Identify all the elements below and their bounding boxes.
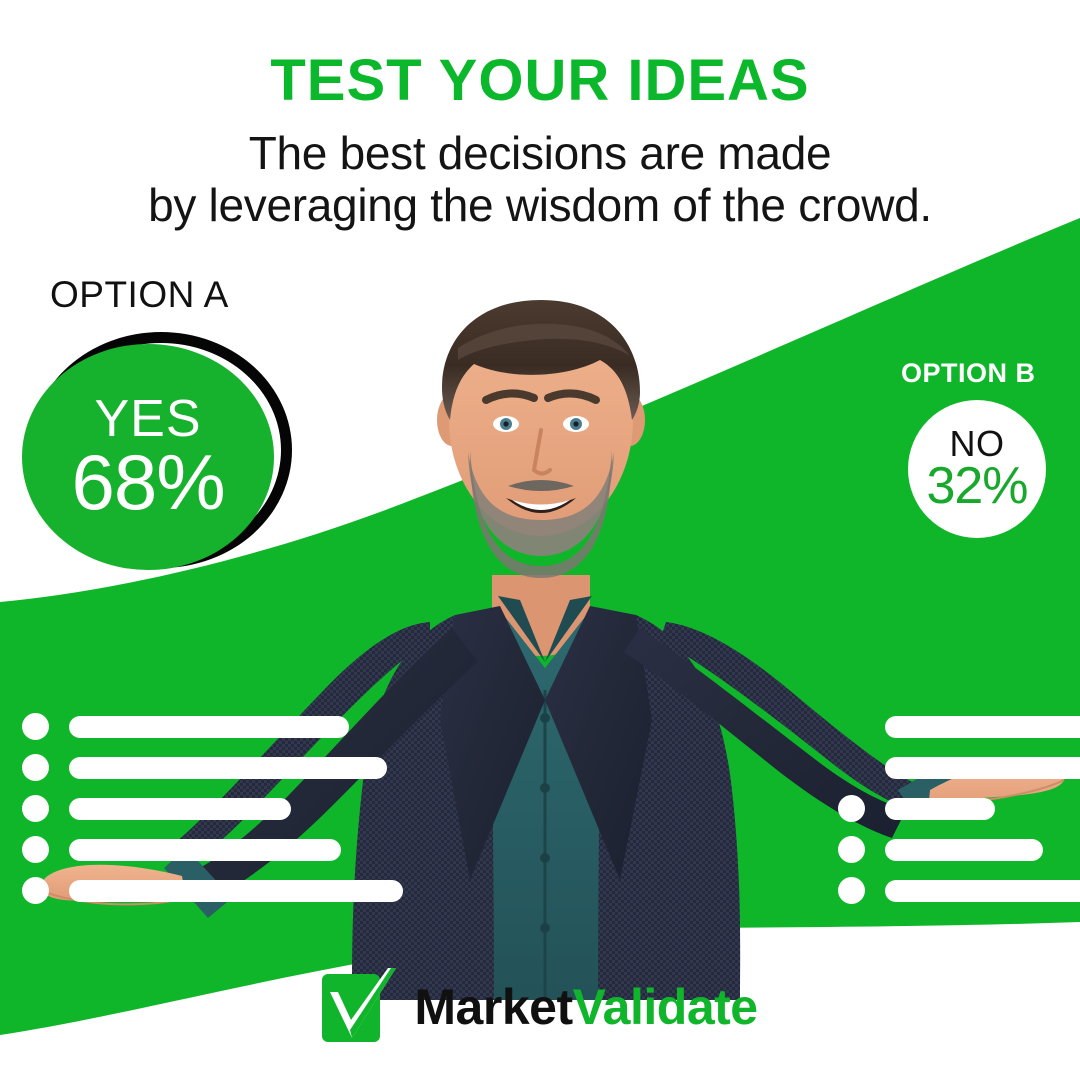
list-item xyxy=(838,706,1080,747)
option-a-label: OPTION A xyxy=(50,274,229,316)
subtitle-line-1: The best decisions are made xyxy=(0,128,1080,180)
bullet-icon xyxy=(22,795,49,822)
list-item xyxy=(22,829,403,870)
option-b-label: OPTION B xyxy=(901,358,1036,389)
list-item xyxy=(22,870,403,911)
list-bar xyxy=(69,839,341,861)
bullet-icon xyxy=(22,836,49,863)
checkmark-icon xyxy=(322,968,396,1046)
list-bar xyxy=(69,798,291,820)
option-b-answer: NO xyxy=(950,426,1005,461)
brand-name-part1: Market xyxy=(414,979,572,1035)
option-b-badge[interactable]: NO 32% xyxy=(908,400,1046,538)
bullet-icon xyxy=(838,795,865,822)
option-a-group: OPTION A xyxy=(50,274,229,316)
list-item xyxy=(22,706,403,747)
list-left xyxy=(22,706,403,911)
bullet-icon xyxy=(838,836,865,863)
bullet-icon xyxy=(838,877,865,904)
poster-canvas: TEST YOUR IDEAS The best decisions are m… xyxy=(0,0,1080,1080)
option-a-percent: 68% xyxy=(71,445,224,520)
page-title: TEST YOUR IDEAS xyxy=(0,52,1080,110)
list-bar xyxy=(69,757,387,779)
brand-name: MarketValidate xyxy=(414,982,757,1032)
list-bar xyxy=(69,716,349,738)
option-b-group: OPTION B xyxy=(901,358,1036,389)
headline-block: TEST YOUR IDEAS The best decisions are m… xyxy=(0,52,1080,231)
bullet-icon xyxy=(22,877,49,904)
list-item xyxy=(22,788,403,829)
list-item xyxy=(838,747,1080,788)
list-bar xyxy=(885,798,995,820)
list-item xyxy=(838,788,1080,829)
list-bar xyxy=(885,880,1080,902)
option-a-disc: YES 68% xyxy=(22,344,274,570)
page-subtitle: The best decisions are made by leveragin… xyxy=(0,128,1080,231)
option-a-badge[interactable]: YES 68% xyxy=(22,332,294,572)
list-item xyxy=(838,829,1080,870)
list-right xyxy=(838,706,1080,911)
list-bar xyxy=(69,880,403,902)
bullet-icon xyxy=(22,754,49,781)
brand-logo[interactable]: MarketValidate xyxy=(0,968,1080,1046)
brand-name-part2: Validate xyxy=(573,979,758,1035)
bullet-icon xyxy=(22,713,49,740)
list-bar xyxy=(885,757,1080,779)
list-item xyxy=(22,747,403,788)
subtitle-line-2: by leveraging the wisdom of the crowd. xyxy=(0,180,1080,232)
list-item xyxy=(838,870,1080,911)
option-b-percent: 32% xyxy=(926,461,1027,512)
list-bar xyxy=(885,839,1043,861)
list-bar xyxy=(885,716,1080,738)
